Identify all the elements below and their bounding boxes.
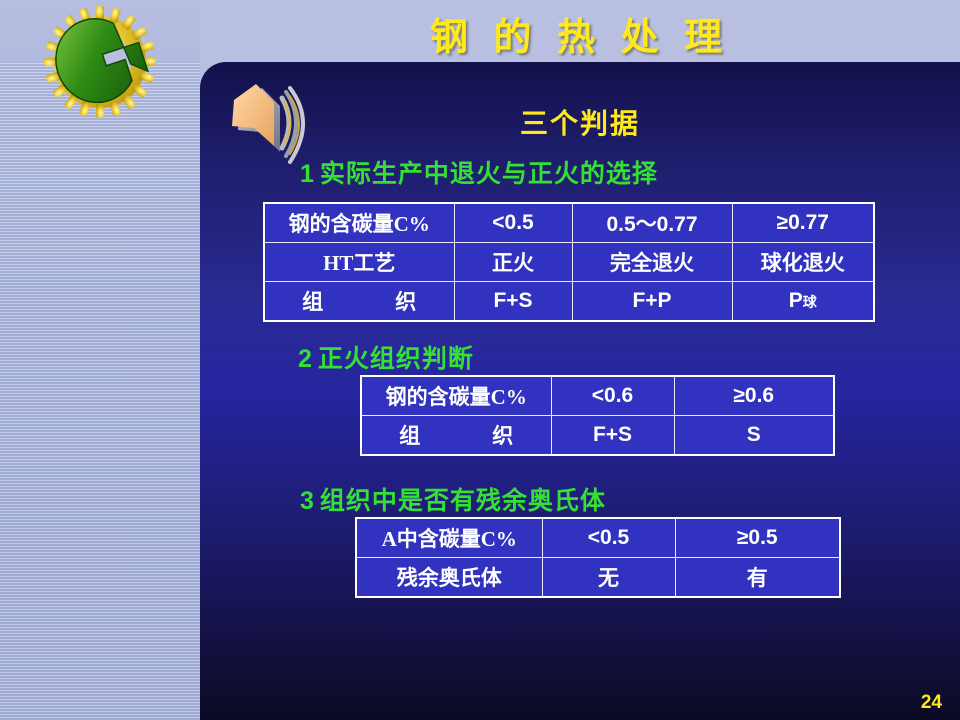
section-number-3: 3 bbox=[300, 487, 315, 515]
table-normalizing-microstructure: 钢的含碳量C% <0.6 ≥0.6 组 织 F+S S bbox=[360, 375, 835, 456]
table-cell: 组 织 bbox=[264, 282, 454, 322]
table-cell: 无 bbox=[542, 558, 675, 598]
section-number-2: 2 bbox=[298, 345, 313, 373]
table-retained-austenite: A中含碳量C% <0.5 ≥0.5 残余奥氏体 无 有 bbox=[355, 517, 841, 598]
table-cell: HT工艺 bbox=[264, 243, 454, 282]
table-row: A中含碳量C% <0.5 ≥0.5 bbox=[356, 518, 840, 558]
table-cell: 正火 bbox=[454, 243, 572, 282]
table-selection-of-annealing-normalizing: 钢的含碳量C% <0.5 0.5～0.77 ≥0.77 HT工艺 正火 完全退火… bbox=[263, 202, 875, 322]
section-heading-2: 2正火组织判断 bbox=[298, 339, 474, 375]
table-cell: F+S bbox=[551, 416, 674, 456]
table-cell: 完全退火 bbox=[572, 243, 732, 282]
table-cell: 钢的含碳量C% bbox=[264, 203, 454, 243]
table-cell: 钢的含碳量C% bbox=[361, 376, 551, 416]
page-title: 钢 的 热 处 理 bbox=[200, 6, 960, 61]
table-cell: ≥0.5 bbox=[675, 518, 840, 558]
table-row: HT工艺 正火 完全退火 球化退火 bbox=[264, 243, 874, 282]
table-cell: <0.6 bbox=[551, 376, 674, 416]
table-cell: F+P bbox=[572, 282, 732, 322]
table-cell: 球化退火 bbox=[732, 243, 874, 282]
table-row: 钢的含碳量C% <0.6 ≥0.6 bbox=[361, 376, 834, 416]
table-cell: F+S bbox=[454, 282, 572, 322]
table-cell: <0.5 bbox=[542, 518, 675, 558]
table-cell: A中含碳量C% bbox=[356, 518, 542, 558]
table-cell: ≥0.77 bbox=[732, 203, 874, 243]
table-row: 残余奥氏体 无 有 bbox=[356, 558, 840, 598]
table-row: 组 织 F+S F+P P球 bbox=[264, 282, 874, 322]
section-text-1: 实际生产中退火与正火的选择 bbox=[320, 161, 658, 188]
slide-subtitle: 三个判据 bbox=[200, 102, 960, 142]
table-row: 钢的含碳量C% <0.5 0.5～0.77 ≥0.77 bbox=[264, 203, 874, 243]
section-heading-1: 1实际生产中退火与正火的选择 bbox=[300, 154, 658, 190]
table-cell: ≥0.6 bbox=[674, 376, 834, 416]
table-row: 组 织 F+S S bbox=[361, 416, 834, 456]
gear-g-logo bbox=[34, 4, 166, 124]
table-cell: 组 织 bbox=[361, 416, 551, 456]
section-number-1: 1 bbox=[300, 160, 315, 188]
section-heading-3: 3组织中是否有残余奥氏体 bbox=[300, 481, 606, 517]
section-text-2: 正火组织判断 bbox=[318, 346, 474, 373]
table-cell: <0.5 bbox=[454, 203, 572, 243]
page-number: 24 bbox=[921, 692, 942, 714]
table-cell: 残余奥氏体 bbox=[356, 558, 542, 598]
table-cell: P球 bbox=[732, 282, 874, 322]
table-cell: 0.5～0.77 bbox=[572, 203, 732, 243]
table-cell: S bbox=[674, 416, 834, 456]
slide-content-panel: 三个判据 1实际生产中退火与正火的选择 钢的含碳量C% <0.5 0.5～0.7… bbox=[200, 62, 960, 720]
table-cell: 有 bbox=[675, 558, 840, 598]
section-text-3: 组织中是否有残余奥氏体 bbox=[320, 488, 606, 515]
presentation-slide: 绪 论 第一章 第二章 第三章 第四章 第五章 第六章 2018-6-23 钢 … bbox=[0, 0, 960, 720]
